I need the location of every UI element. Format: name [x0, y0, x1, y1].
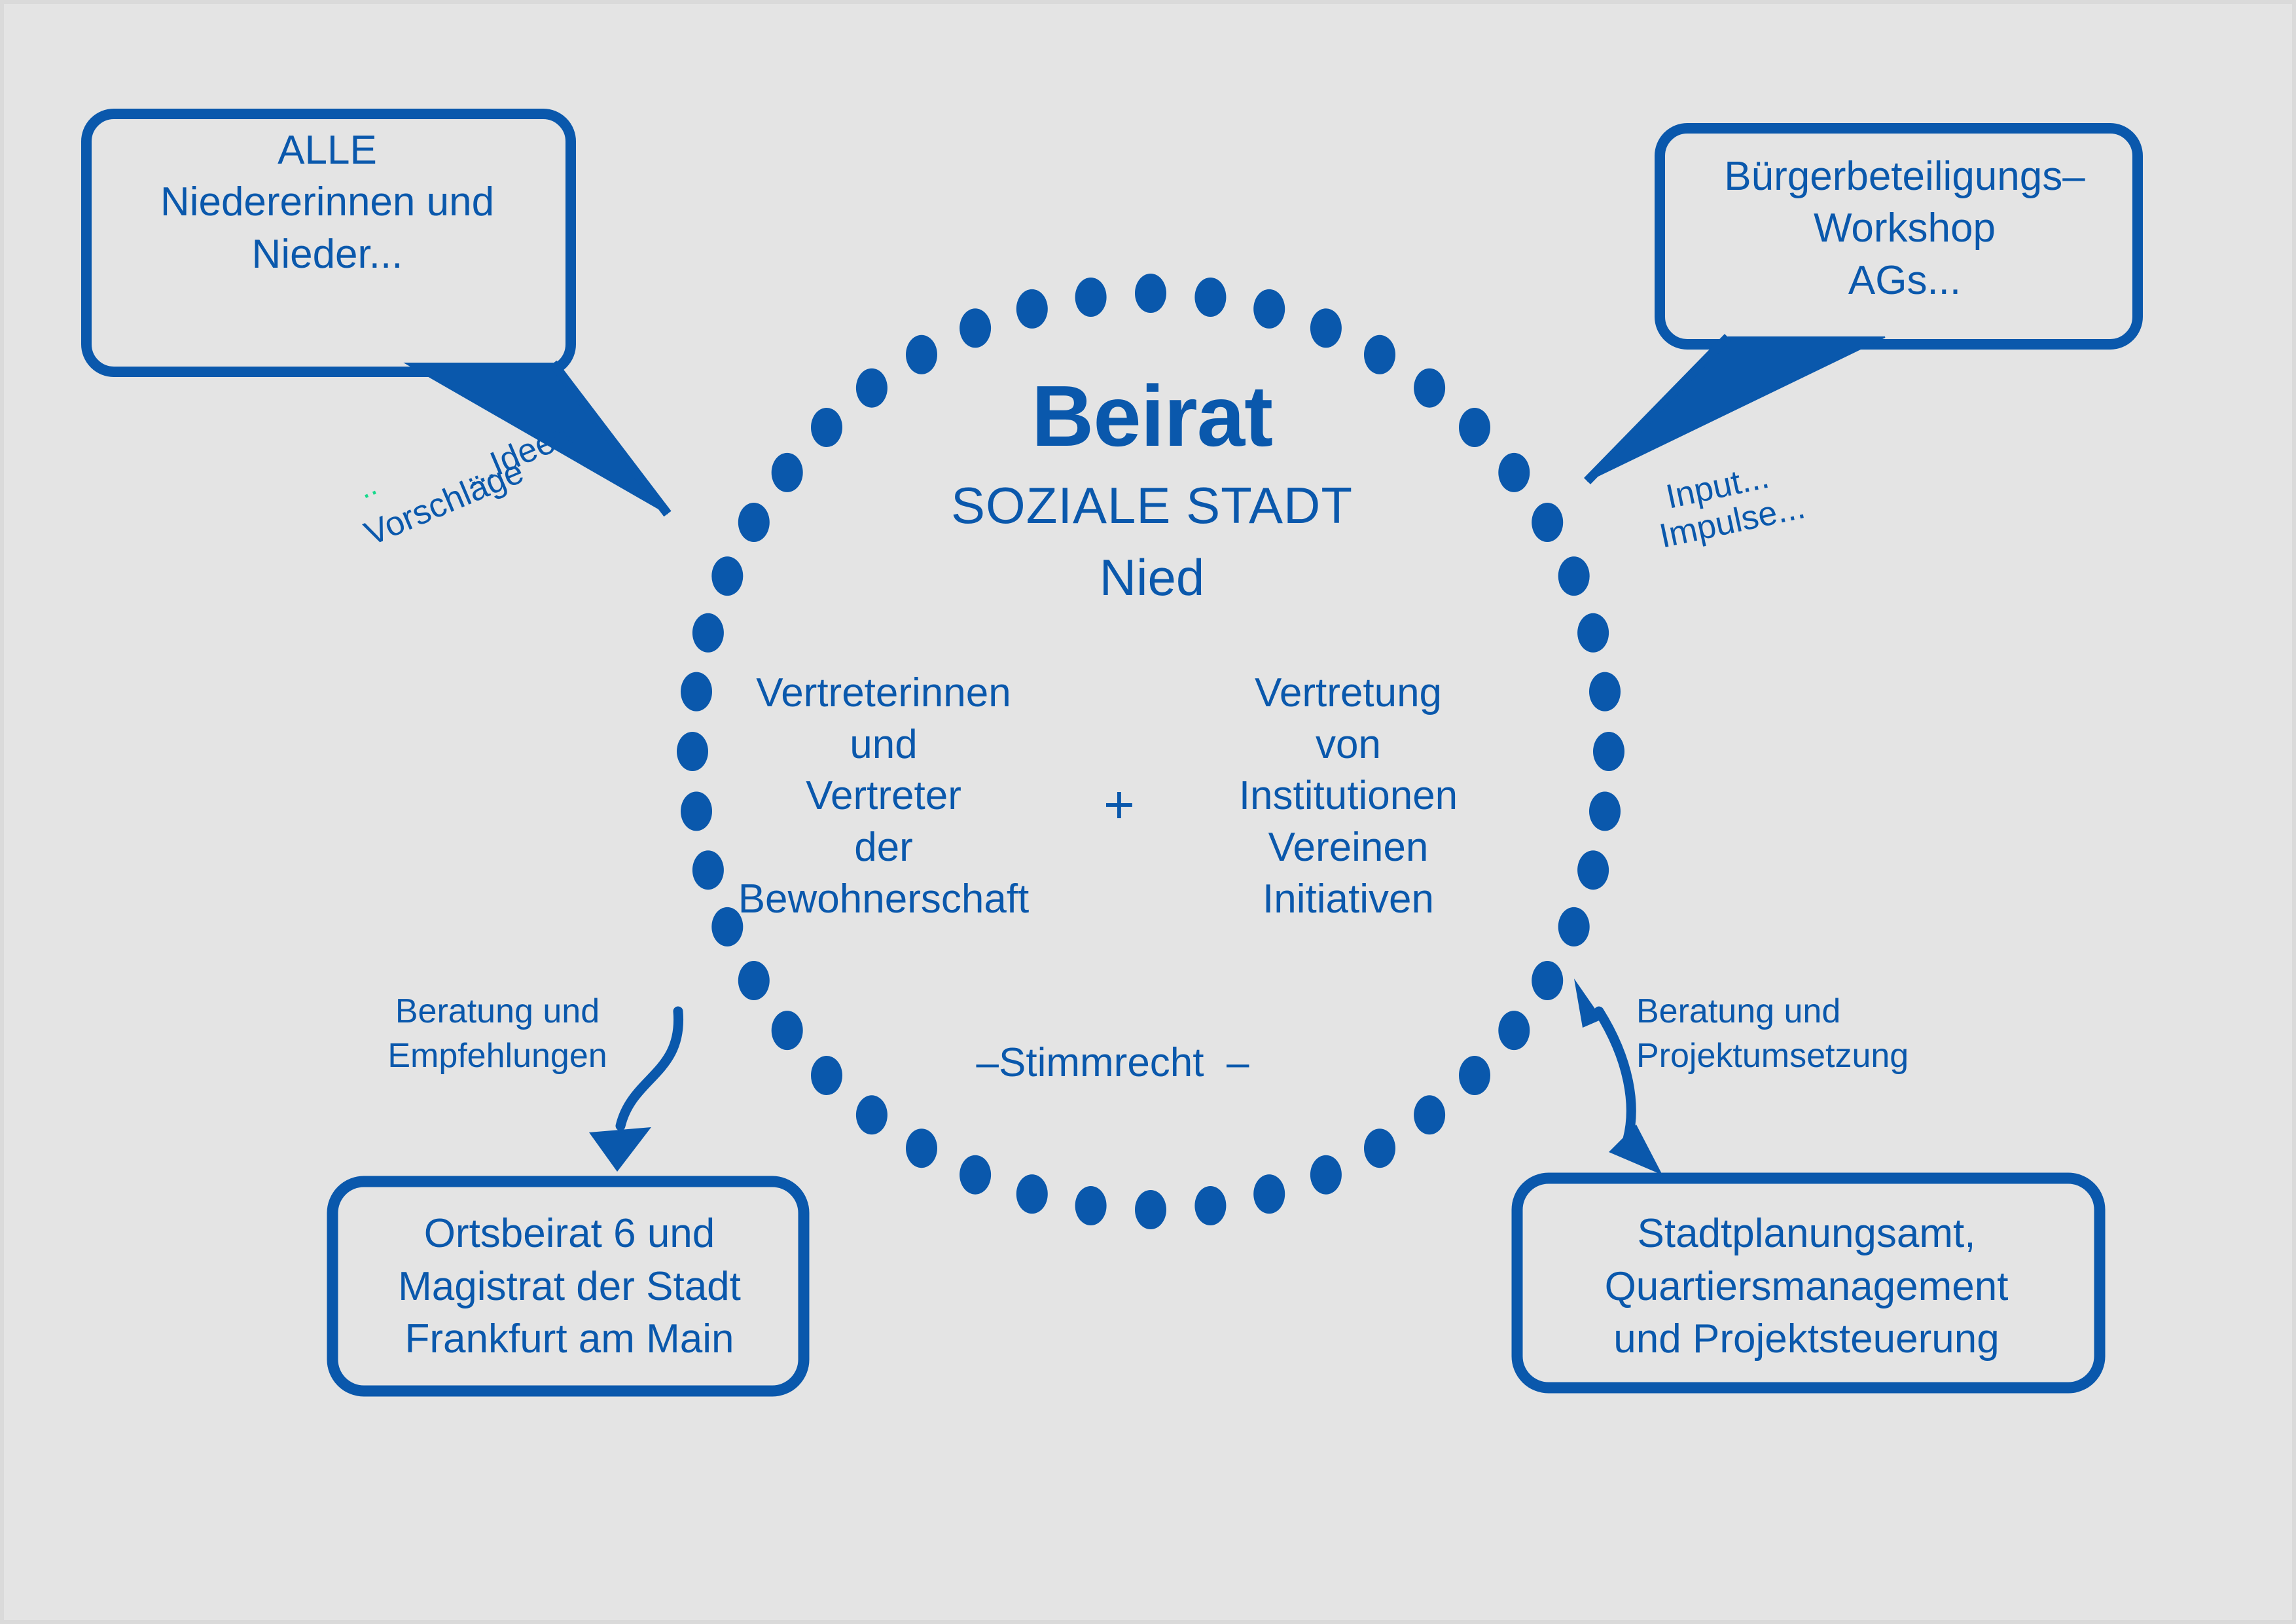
center-column-right: Vertretung von Institutionen Vereinen In… [1178, 668, 1518, 926]
stimmrecht-note: –Stimmrecht – [916, 1038, 1309, 1088]
circle-dot [681, 791, 712, 831]
circle-dot [692, 613, 724, 653]
circle-dot [1532, 503, 1563, 542]
circle-dot [1075, 1186, 1107, 1225]
circle-dot [1075, 278, 1107, 317]
center-column-left: Vertreterinnen und Vertreter der Bewohne… [713, 668, 1054, 926]
circle-dot [1194, 1186, 1226, 1225]
circle-dot [1016, 289, 1048, 329]
circle-dot [1194, 278, 1226, 317]
circle-dot [960, 308, 991, 348]
box-bottom-right-label: Stadtplanungsamt, Quartiersmanagement un… [1525, 1208, 2088, 1366]
circle-dot [772, 1011, 803, 1050]
circle-dot [772, 453, 803, 492]
circle-dot [856, 1095, 888, 1134]
circle-dot [738, 961, 770, 1000]
circle-dot [711, 556, 743, 596]
speech-bubble-top-right-label: Bürgerbeteiligungs– Workshop AGs... [1682, 151, 2127, 306]
circle-dot [1577, 613, 1609, 653]
circle-dot [1577, 850, 1609, 890]
circle-dot [1310, 1155, 1342, 1195]
speech-bubble-top-right-tail [1587, 337, 1885, 481]
circle-dot [1459, 408, 1490, 447]
arrow-left-label: Beratung und Empfehlungen [367, 990, 628, 1078]
arrow-right-label: Beratung und Projektumsetzung [1636, 990, 1964, 1078]
circle-dot [1558, 556, 1590, 596]
circle-dot [1253, 289, 1285, 329]
circle-dot [1589, 791, 1621, 831]
circle-dot [960, 1155, 991, 1195]
circle-dot [1459, 1056, 1490, 1095]
circle-dot [1016, 1174, 1048, 1214]
circle-dot [1310, 308, 1342, 348]
circle-dot [1498, 453, 1530, 492]
circle-dot [1414, 1095, 1445, 1134]
diagram-canvas: ALLE Niedererinnen und Nieder... Bürgerb… [0, 0, 2296, 1624]
circle-dot [906, 1128, 937, 1168]
circle-dot [1589, 672, 1621, 712]
circle-dot [811, 408, 842, 447]
circle-dot [738, 503, 770, 542]
circle-dot [1498, 1011, 1530, 1050]
page-title: Beirat [857, 363, 1446, 469]
plus-operator: + [1080, 772, 1158, 838]
circle-dot [811, 1056, 842, 1095]
circle-dot [681, 672, 712, 712]
circle-dot [1253, 1174, 1285, 1214]
circle-dot [1135, 1190, 1166, 1229]
page-subtitle-line-2: Nied [857, 547, 1446, 609]
circle-dot [1532, 961, 1563, 1000]
page-subtitle-line-1: SOZIALE STADT [857, 475, 1446, 537]
circle-dot [1135, 274, 1166, 313]
speech-bubble-top-left-label: ALLE Niedererinnen und Nieder... [98, 124, 556, 280]
circle-dot [1593, 732, 1624, 771]
box-bottom-left-label: Ortsbeirat 6 und Magistrat der Stadt Fra… [340, 1208, 798, 1366]
circle-dot [677, 732, 708, 771]
circle-dot [1558, 907, 1590, 947]
circle-dot [1364, 1128, 1395, 1168]
